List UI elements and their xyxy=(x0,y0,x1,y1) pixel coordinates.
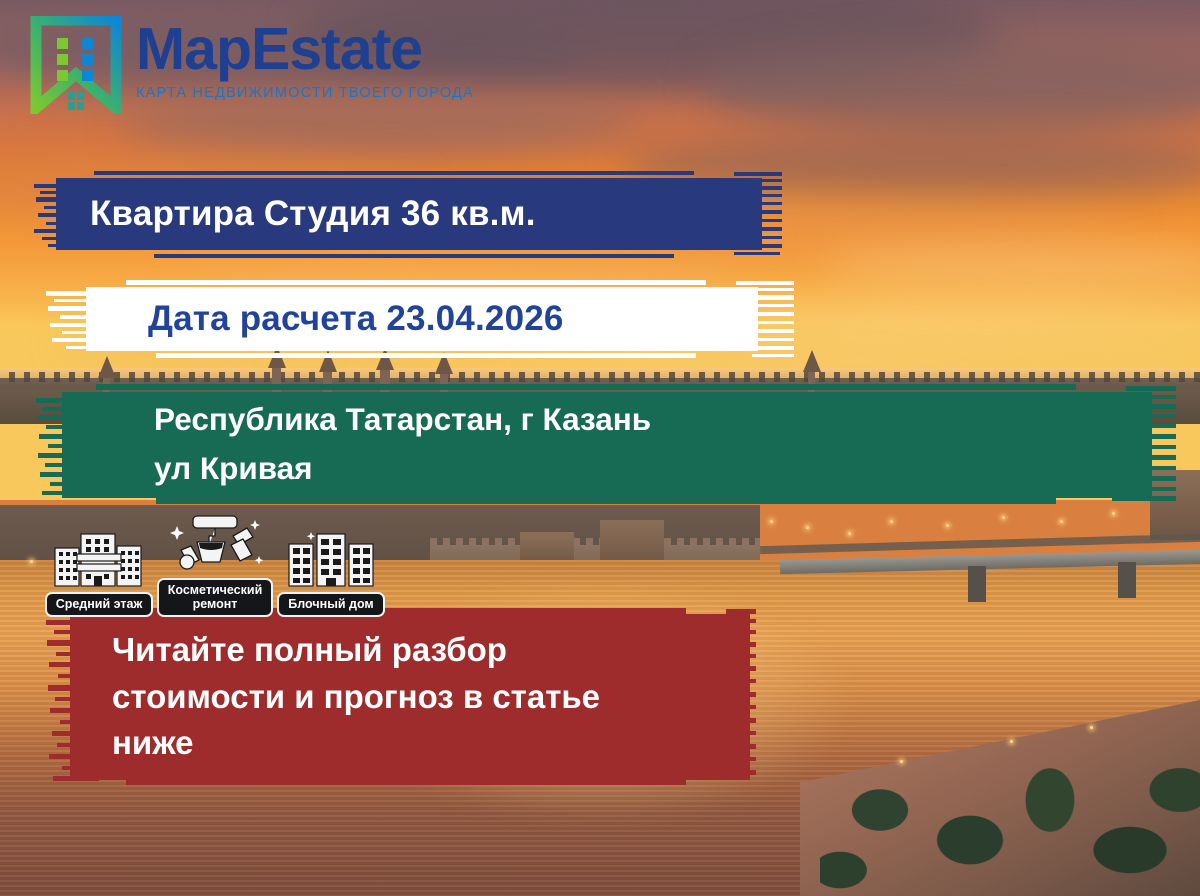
bridge-pier xyxy=(968,566,986,602)
street-light xyxy=(30,560,33,563)
brand-text-block: MapEstate КАРТА НЕДВИЖИМОСТИ ТВОЕГО ГОРО… xyxy=(136,20,474,101)
street-light xyxy=(1010,740,1013,743)
cta-banner: Читайте полный разбор стоимости и прогно… xyxy=(46,606,756,788)
badge-label: Косметический ремонт xyxy=(157,578,274,617)
address-banner-text: Республика Татарстан, г Казань ул Кривая xyxy=(36,395,651,493)
cta-banner-text: Читайте полный разбор стоимости и прогно… xyxy=(46,627,600,768)
street-light xyxy=(1112,512,1115,515)
badge-cosmetic-renovation[interactable]: Косметический ремонт xyxy=(160,512,270,617)
badge-average-floor[interactable]: Средний этаж xyxy=(44,526,154,616)
date-banner: Дата расчета 23.04.2026 xyxy=(46,277,794,361)
badge-label: Средний этаж xyxy=(45,592,154,616)
badge-block-house[interactable]: Блочный дом xyxy=(276,526,386,616)
feature-badges: Средний этаж xyxy=(44,512,386,617)
street-light xyxy=(1060,520,1063,523)
street-light xyxy=(1090,726,1093,729)
street-light xyxy=(770,520,773,523)
bridge-pier xyxy=(1118,562,1136,598)
apartment-banner: Квартира Студия 36 кв.м. xyxy=(34,170,782,258)
street-light xyxy=(1002,516,1005,519)
apartment-block-icon xyxy=(281,526,381,588)
street-light xyxy=(890,520,893,523)
street-light xyxy=(946,524,949,527)
street-light xyxy=(900,760,903,763)
poster-canvas: MapEstate КАРТА НЕДВИЖИМОСТИ ТВОЕГО ГОРО… xyxy=(0,0,1200,896)
park-trees xyxy=(820,760,1200,896)
street-light xyxy=(848,532,851,535)
address-banner: Республика Татарстан, г Казань ул Кривая xyxy=(36,382,1176,506)
brand-logo[interactable]: MapEstate КАРТА НЕДВИЖИМОСТИ ТВОЕГО ГОРО… xyxy=(30,16,474,114)
street-light xyxy=(806,526,809,529)
date-banner-text: Дата расчета 23.04.2026 xyxy=(46,299,564,339)
map-bookmark-building-icon xyxy=(30,16,122,114)
office-buildings-icon xyxy=(49,526,149,588)
apartment-banner-text: Квартира Студия 36 кв.м. xyxy=(34,194,536,234)
brand-tagline: КАРТА НЕДВИЖИМОСТИ ТВОЕГО ГОРОДА xyxy=(136,85,474,101)
badge-label: Блочный дом xyxy=(277,592,384,616)
brand-name: MapEstate xyxy=(136,20,474,79)
paint-roller-tools-icon xyxy=(163,512,267,574)
